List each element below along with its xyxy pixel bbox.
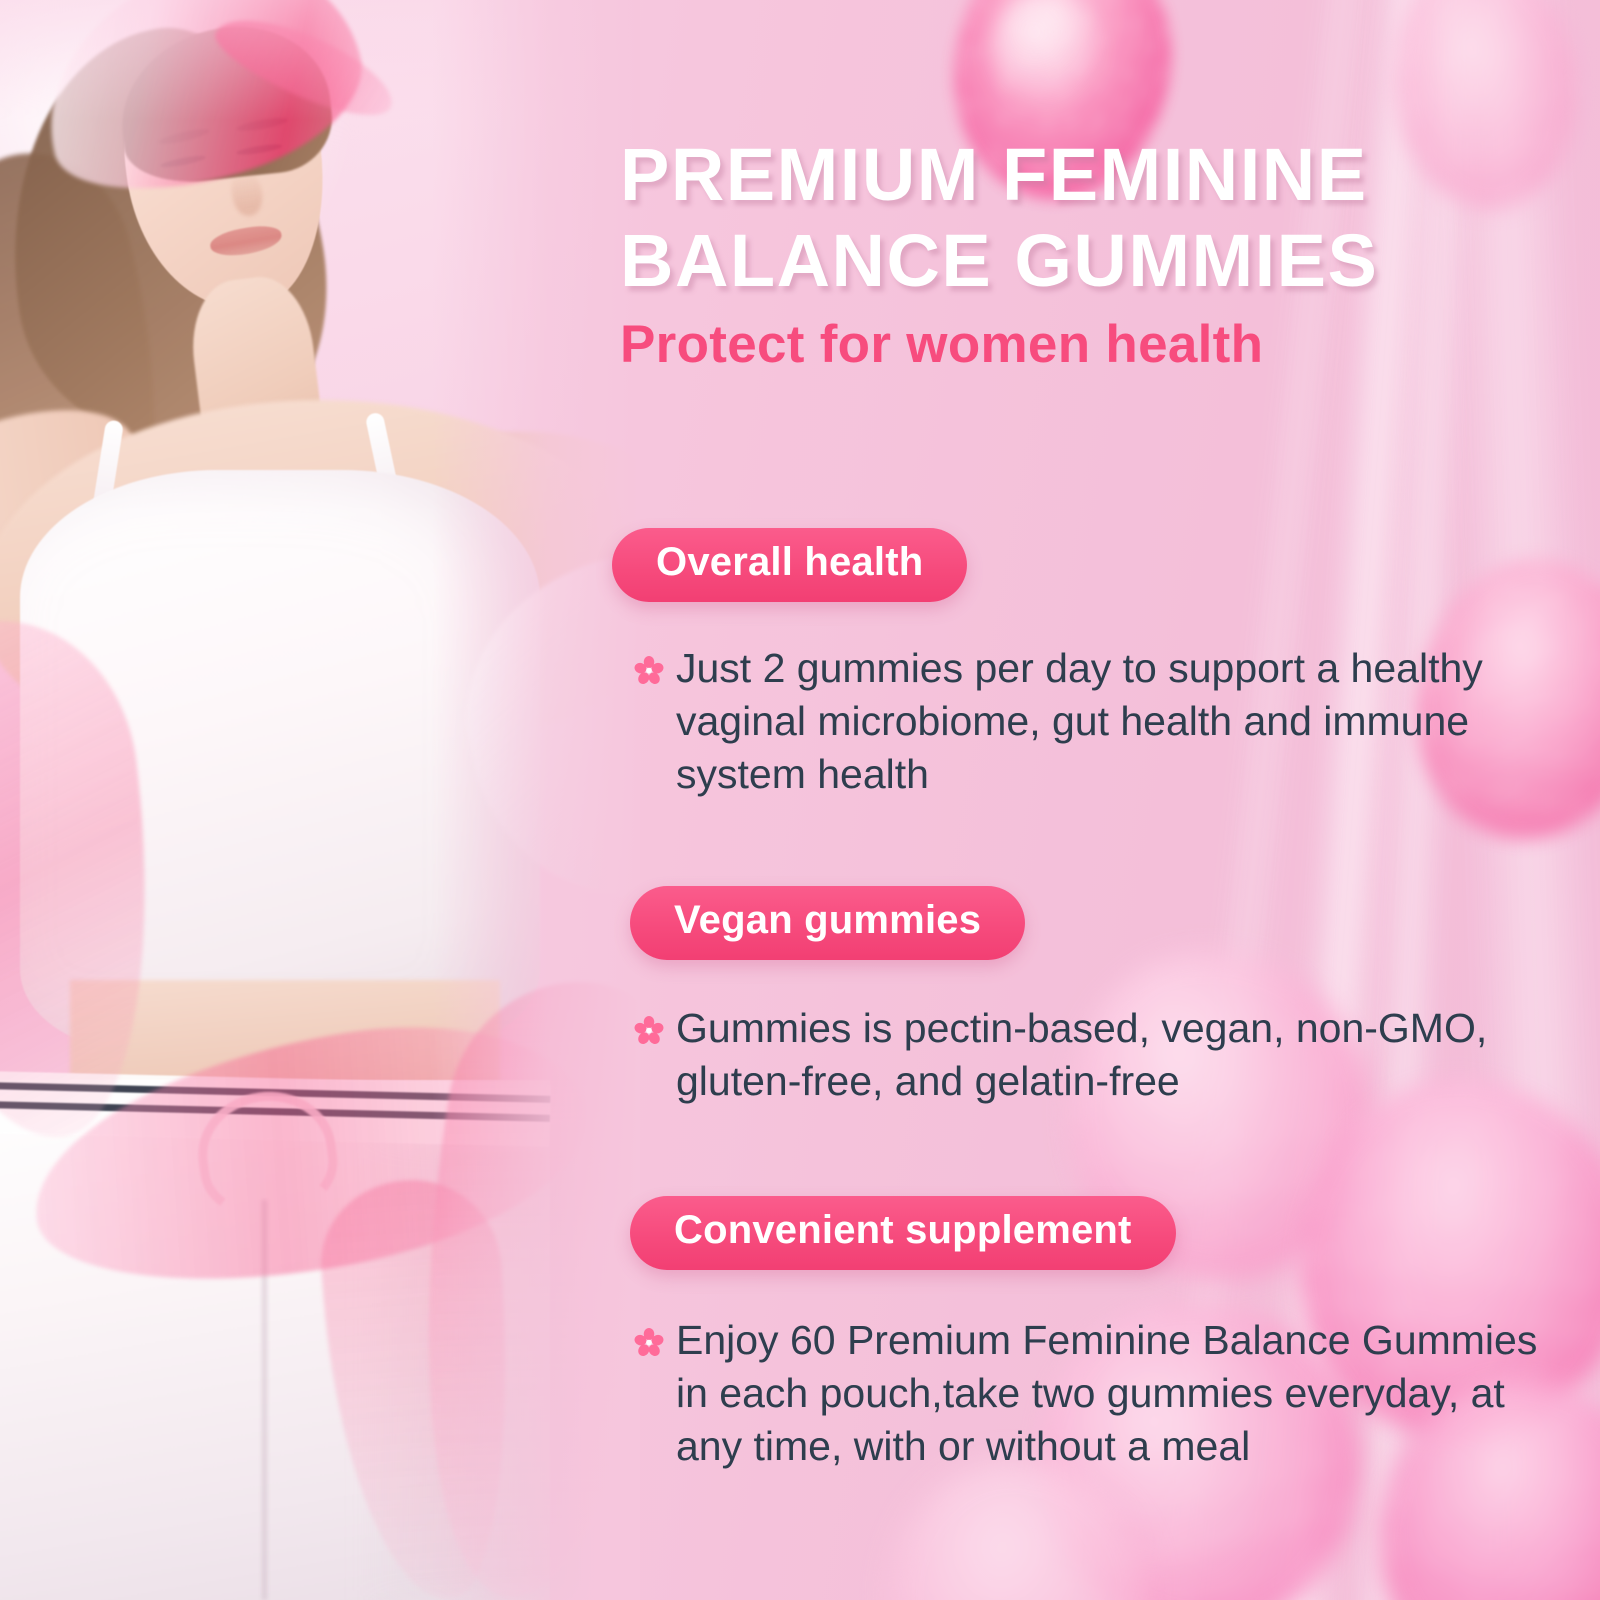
page-title-line-2: BALANCE GUMMIES [620, 218, 1600, 304]
page-title-line-1: PREMIUM FEMININE [620, 132, 1600, 218]
feature-bullet-row: Gummies is pectin-based, vegan, non-GMO,… [634, 1002, 1600, 1109]
cherry-blossom-icon [634, 1016, 664, 1046]
feature-bullet-row: Just 2 gummies per day to support a heal… [634, 642, 1600, 802]
feature-badge-vegan-gummies[interactable]: Vegan gummies [630, 886, 1025, 960]
feature-block-vegan-gummies: Vegan gummies Gummies is pectin-based, v… [612, 886, 1600, 1108]
page-subtitle: Protect for women health [620, 314, 1600, 375]
feature-block-overall-health: Overall health Just 2 gummies per day to… [612, 528, 1600, 801]
feature-text-overall-health: Just 2 gummies per day to support a heal… [676, 642, 1576, 802]
feature-badge-overall-health[interactable]: Overall health [612, 528, 967, 602]
feature-block-convenient-supplement: Convenient supplement Enjoy 60 Premium F… [612, 1196, 1600, 1473]
feature-text-convenient-supplement: Enjoy 60 Premium Feminine Balance Gummie… [676, 1314, 1576, 1474]
product-marketing-poster: PREMIUM FEMININE BALANCE GUMMIES Protect… [0, 0, 1600, 1600]
content-column: PREMIUM FEMININE BALANCE GUMMIES Protect… [612, 0, 1600, 1600]
feature-bullet-row: Enjoy 60 Premium Feminine Balance Gummie… [634, 1314, 1600, 1474]
feature-text-vegan-gummies: Gummies is pectin-based, vegan, non-GMO,… [676, 1002, 1556, 1109]
cherry-blossom-icon [634, 656, 664, 686]
feature-badge-convenient-supplement[interactable]: Convenient supplement [630, 1196, 1176, 1270]
hero-title-block: PREMIUM FEMININE BALANCE GUMMIES Protect… [620, 132, 1600, 375]
cherry-blossom-icon [634, 1328, 664, 1358]
model-photo [0, 0, 640, 1600]
